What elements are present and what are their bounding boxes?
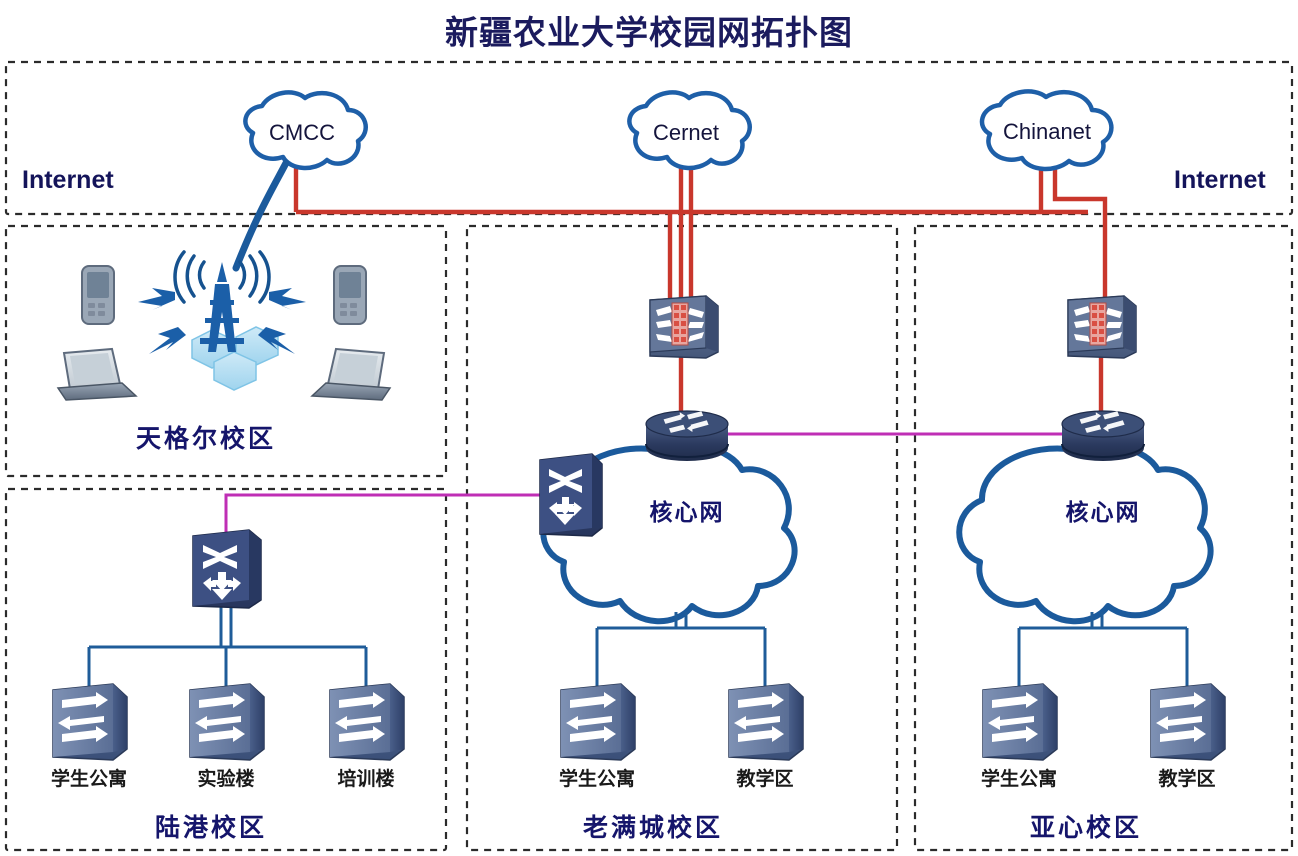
switch-label: 教学区 <box>736 764 793 791</box>
campus-title-lugang: 陆港校区 <box>155 808 267 844</box>
switch-label: 学生公寓 <box>51 764 127 791</box>
core-network-label-left: 核心网 <box>650 493 725 527</box>
campus-title-yaxin: 亚心校区 <box>1030 808 1142 844</box>
wireless-tower-group <box>138 252 306 390</box>
switch-label: 实验楼 <box>197 764 254 791</box>
cloud-label-chinanet: Chinanet <box>1003 119 1091 145</box>
core-network-label-right: 核心网 <box>1066 493 1141 527</box>
multilayer-switch-lugang <box>193 530 261 608</box>
switch-box <box>190 684 264 760</box>
topology-diagram: 新疆农业大学校园网拓扑图 <box>0 0 1298 856</box>
switch-box <box>729 684 803 760</box>
link-chinanet-b <box>1055 166 1105 306</box>
cloud-label-cernet: Cernet <box>653 120 719 146</box>
switch-box <box>561 684 635 760</box>
access-switches <box>53 684 1225 760</box>
core-cloud-right <box>959 446 1210 621</box>
switch-label: 学生公寓 <box>981 764 1057 791</box>
core-router-left <box>646 411 728 461</box>
switch-box <box>1151 684 1225 760</box>
cloud-label-cmcc: CMCC <box>269 120 335 146</box>
pda-right <box>334 266 366 324</box>
link-lugang-to-core <box>226 495 570 540</box>
internet-label-left: Internet <box>22 166 114 195</box>
laptop-right <box>312 349 390 400</box>
campus-title-laomancheng: 老满城校区 <box>583 808 723 844</box>
switch-label: 教学区 <box>1158 764 1215 791</box>
firewall-left <box>650 296 718 358</box>
core-router-right <box>1062 411 1144 461</box>
core-cloud-outlines <box>543 446 1210 621</box>
tower-icon <box>200 262 244 352</box>
internet-label-right: Internet <box>1174 166 1266 195</box>
campus-title-tiangeer: 天格尔校区 <box>136 419 276 455</box>
wan-links-red <box>296 166 1105 424</box>
switch-box <box>983 684 1057 760</box>
switch-box <box>53 684 127 760</box>
firewall-right <box>1068 296 1136 358</box>
switch-label: 培训楼 <box>337 764 394 791</box>
multilayer-switch-laomancheng-edge <box>540 454 602 536</box>
switch-label: 学生公寓 <box>559 764 635 791</box>
pda-left <box>82 266 114 324</box>
switch-box <box>330 684 404 760</box>
laptop-left <box>58 349 136 400</box>
